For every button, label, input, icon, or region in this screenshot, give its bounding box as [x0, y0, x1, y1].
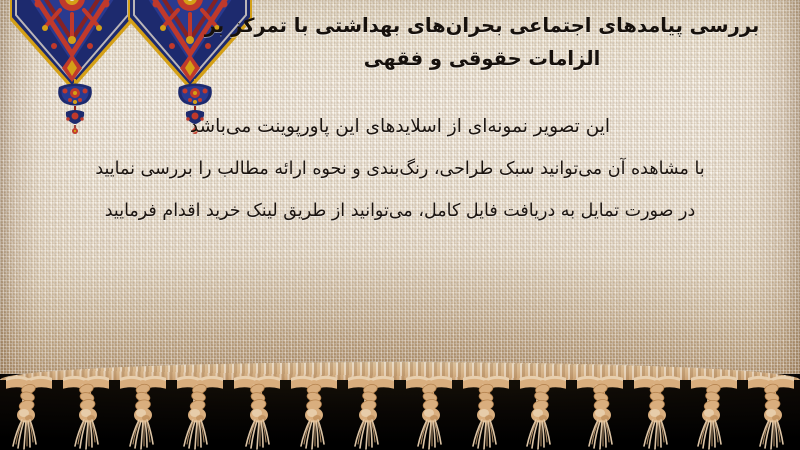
slide-title: بررسی پیامدهای اجتماعی بحران‌های بهداشتی…	[182, 9, 782, 75]
fringe-black-background	[0, 380, 800, 450]
slide-title-line-1: بررسی پیامدهای اجتماعی بحران‌های بهداشتی…	[182, 9, 782, 42]
slide-body: این تصویر نمونه‌ای از اسلایدهای این پاور…	[20, 106, 780, 232]
slide-body-line-1: این تصویر نمونه‌ای از اسلایدهای این پاور…	[20, 106, 780, 148]
slide-text-layer: بررسی پیامدهای اجتماعی بحران‌های بهداشتی…	[0, 0, 800, 374]
slide-body-line-2: با مشاهده آن می‌توانید سبک طراحی، رنگ‌بن…	[20, 148, 780, 190]
slide-title-line-2: الزامات حقوقی و فقهی	[182, 42, 782, 75]
slide-body-line-3: در صورت تمایل به دریافت فایل کامل، می‌تو…	[20, 190, 780, 232]
slide-canvas: بررسی پیامدهای اجتماعی بحران‌های بهداشتی…	[0, 0, 800, 450]
